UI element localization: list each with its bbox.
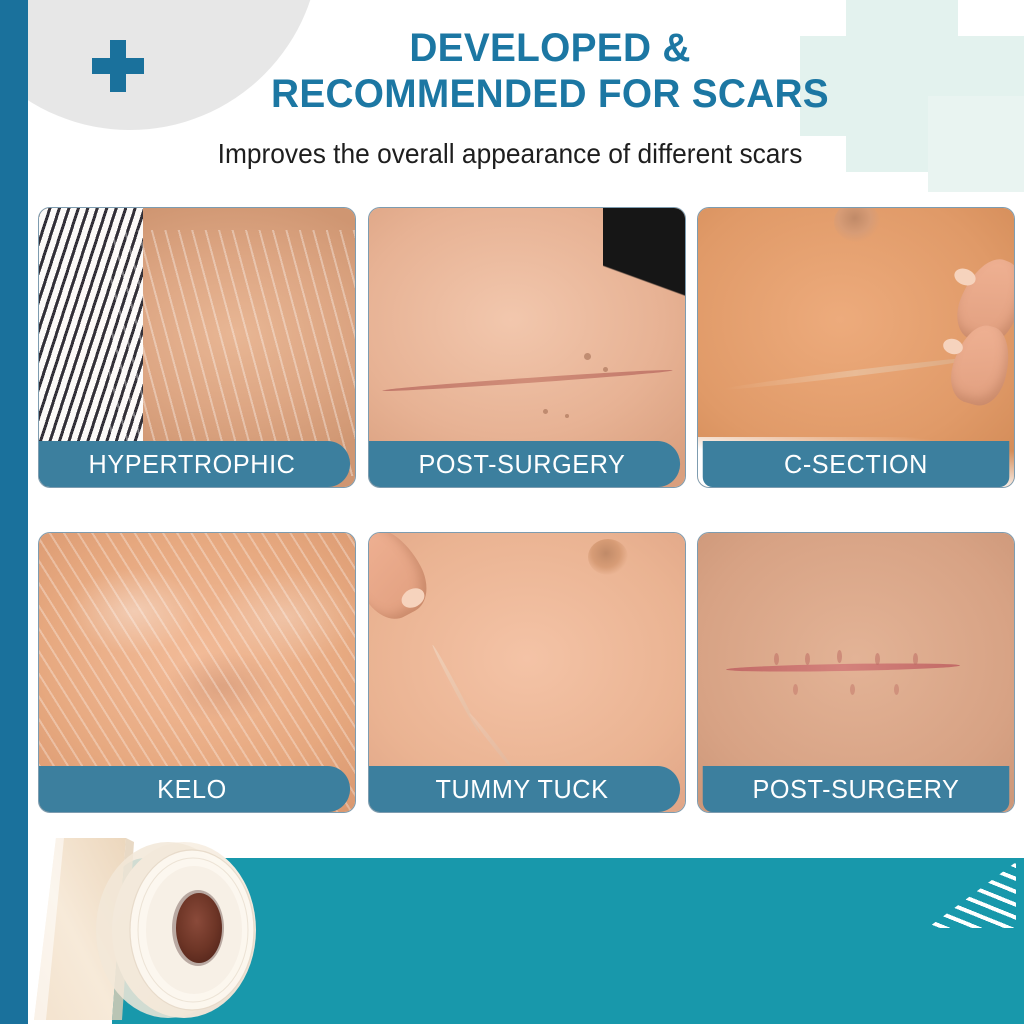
headline-line-1: DEVELOPED & [162,26,938,72]
diagonal-stripes-decoration [908,862,1016,928]
page-subtitle: Improves the overall appearance of diffe… [87,138,933,170]
headline-line-2: RECOMMENDED FOR SCARS [162,72,938,118]
header: DEVELOPED & RECOMMENDED FOR SCARS Improv… [0,0,1024,196]
scar-card-label: HYPERTROPHIC [38,441,350,487]
scar-card-hypertrophic[interactable]: HYPERTROPHIC [38,207,356,488]
page-title: DEVELOPED & RECOMMENDED FOR SCARS [162,26,938,117]
scar-card-label: KELO [38,766,350,812]
scar-card-label: TUMMY TUCK [368,766,680,812]
scar-card-label: POST-SURGERY [703,766,1010,812]
scar-card-label: C-SECTION [703,441,1010,487]
silicone-scar-tape-roll [16,832,316,1024]
scar-card-post-surgery-arm[interactable]: POST-SURGERY [368,207,686,488]
scar-card-c-section[interactable]: C-SECTION [697,207,1015,488]
scar-card-tummy-tuck[interactable]: TUMMY TUCK [368,532,686,813]
scar-card-keloid[interactable]: KELO [38,532,356,813]
scar-card-post-surgery[interactable]: POST-SURGERY [697,532,1015,813]
medical-plus-icon [92,40,144,92]
scar-card-label: POST-SURGERY [368,441,680,487]
